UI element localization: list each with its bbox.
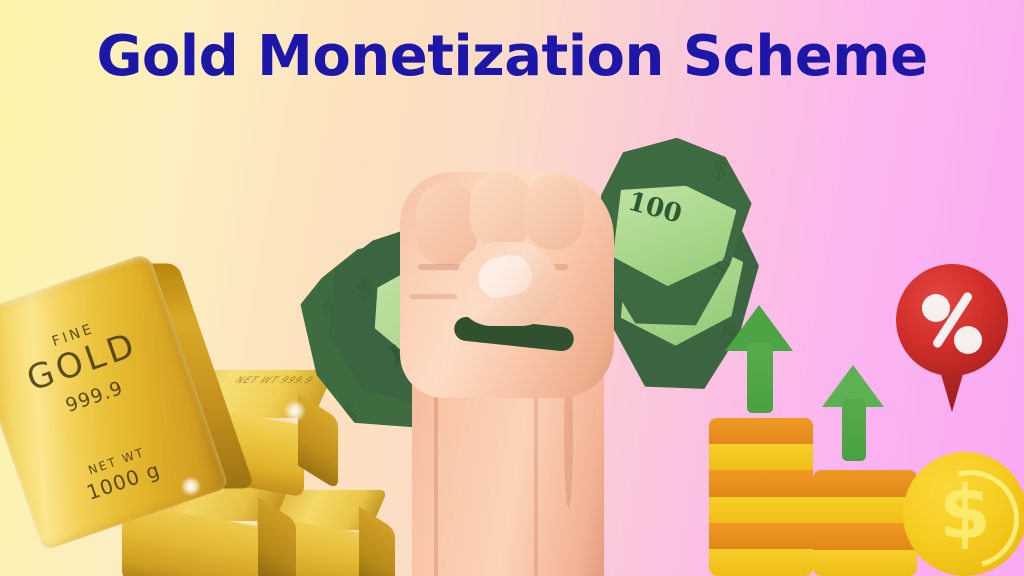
percent-dot-upper [922, 294, 950, 322]
dollar-coin-icon: $ [903, 452, 1024, 576]
dollar-sign-icon: $ [338, 398, 361, 430]
coin-band [709, 549, 813, 576]
knuckle [470, 172, 532, 250]
coin-band [709, 470, 813, 496]
coin-band [813, 550, 917, 576]
coin-band [709, 523, 813, 549]
arrow-stem [842, 399, 866, 461]
interest-rate-pin [896, 264, 1008, 416]
coin-band [709, 444, 813, 470]
dollar-sign-icon: $ [903, 468, 1024, 558]
fist-holding-cash-illustration: 100 $ $ 100 $ $ 100 $ $ $ 100 $ $ [300, 120, 760, 576]
thumbnail [474, 251, 535, 301]
coin-band [709, 418, 813, 444]
coin-stack-tall [709, 418, 813, 576]
gold-bar-top-face: FINE GOLD 999.9 NET WT 1000 g [0, 253, 229, 551]
knuckle [524, 176, 584, 250]
clenched-fist [400, 172, 614, 398]
arrow-stem [747, 343, 773, 413]
coin-band [709, 497, 813, 523]
coin-band [813, 497, 917, 524]
coin-band [813, 523, 917, 550]
up-arrow-large-icon [725, 305, 793, 413]
dollar-sign-icon: $ [355, 273, 375, 304]
coin-band [813, 470, 917, 497]
up-arrow-small-icon [822, 365, 884, 461]
page-title: Gold Monetization Scheme [0, 24, 1024, 89]
thumb [456, 242, 560, 326]
percent-dot-lower [954, 326, 982, 354]
percent-icon [896, 264, 1008, 376]
gold-monetization-banner: Gold Monetization Scheme NET WT 999.9 [0, 0, 1024, 576]
coin-stack-short [813, 470, 917, 576]
gold-bar-side-face [258, 497, 296, 576]
dollar-sign-icon: $ [708, 154, 731, 186]
